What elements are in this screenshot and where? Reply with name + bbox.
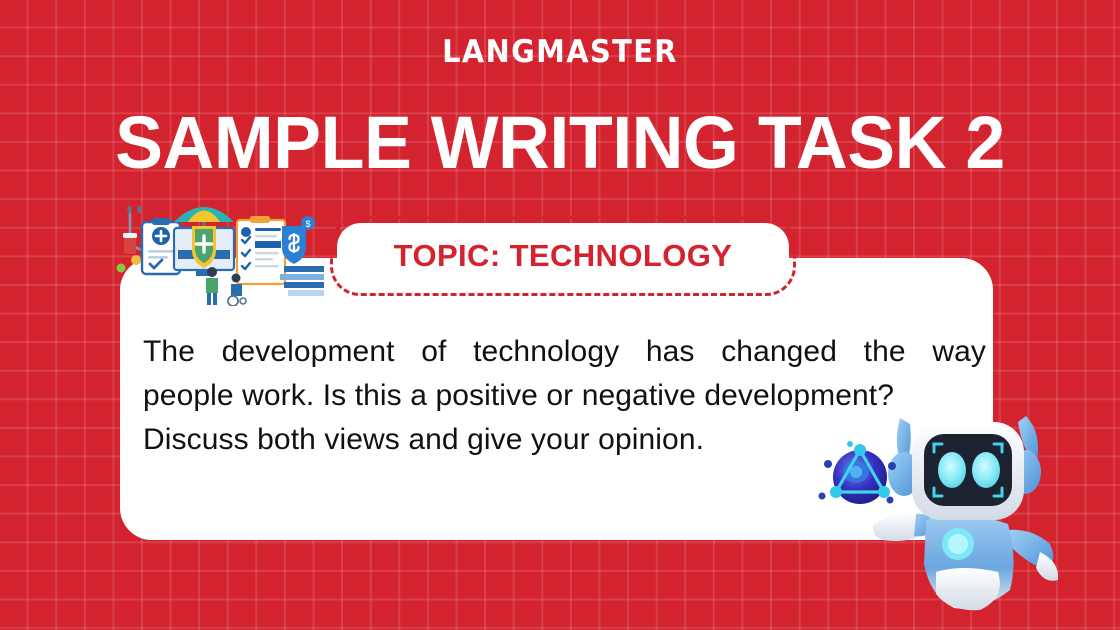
prompt-word: development	[222, 330, 395, 374]
svg-text:$: $	[305, 219, 310, 229]
robot-eye-left	[938, 452, 966, 488]
cup-icon	[123, 233, 137, 254]
coin-icon	[117, 264, 126, 273]
prompt-word: way	[932, 330, 986, 374]
books-icon	[280, 266, 324, 296]
langmaster-logo: LANGMASTER	[39, 34, 1081, 70]
prompt-line-1: The development of technology has change…	[143, 330, 986, 374]
prompt-word: changed	[721, 330, 837, 374]
robot-eye-right	[972, 452, 1000, 488]
coin-icon	[131, 255, 141, 265]
prompt-word: the	[864, 330, 906, 374]
health-insurance-illustration: $	[112, 198, 327, 306]
robot-arm-right	[1008, 530, 1058, 581]
topic-badge: TOPIC: TECHNOLOGY	[330, 216, 796, 296]
atom-orb	[819, 441, 897, 504]
prompt-word: technology	[473, 330, 619, 374]
topic-badge-fill: TOPIC: TECHNOLOGY	[337, 223, 789, 289]
ai-robot-mascot	[812, 404, 1112, 630]
page-title: SAMPLE WRITING TASK 2	[17, 103, 1103, 183]
insurance-document-icon	[237, 216, 285, 284]
poster-canvas: LANGMASTER SAMPLE WRITING TASK 2 The dev…	[0, 0, 1120, 630]
person-standing-icon	[206, 267, 218, 305]
prompt-word: has	[646, 330, 695, 374]
prompt-word: of	[421, 330, 446, 374]
robot-torso	[924, 515, 1014, 610]
shield-dollar-icon: $	[282, 216, 315, 264]
topic-badge-label: TOPIC: TECHNOLOGY	[394, 238, 733, 274]
prompt-word: The	[143, 330, 195, 374]
robot-head	[912, 422, 1024, 520]
